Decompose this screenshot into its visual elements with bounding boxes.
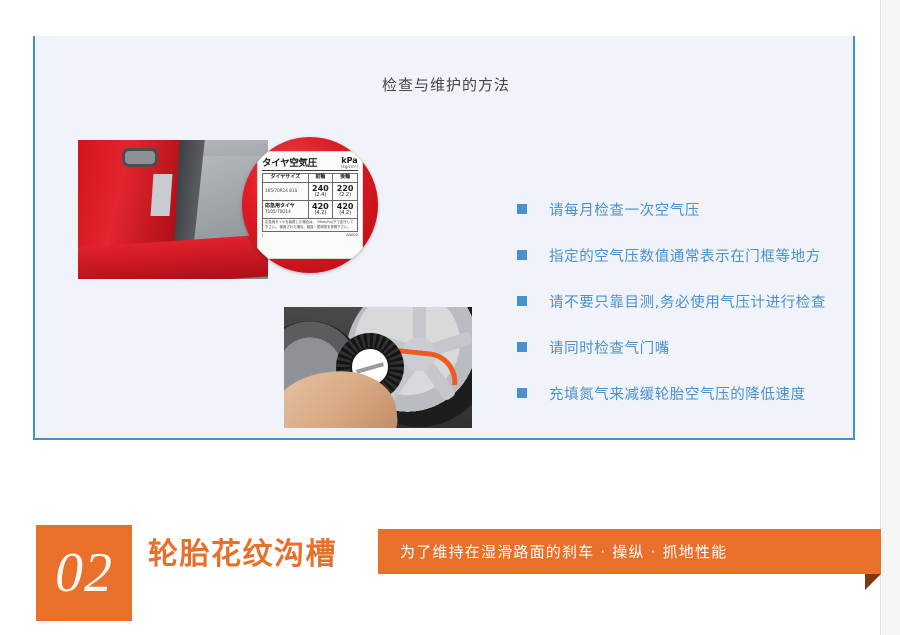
label-footer: J AA000 (262, 232, 358, 237)
square-bullet-icon (517, 204, 527, 214)
table-header-row: タイヤサイズ 前輪 後輪 (263, 174, 358, 183)
section-heading: 轮胎花纹沟槽 (148, 529, 337, 573)
square-bullet-icon (517, 250, 527, 260)
section-number-badge: 02 (36, 525, 132, 621)
label-unit-sub: (kg/cm²) (341, 165, 358, 169)
maintenance-bullet-list: 请每月检查一次空气压 指定的空气压数值通常表示在门框等地方 请不要只靠目测,务必… (517, 186, 826, 416)
list-item: 指定的空气压数值通常表示在门框等地方 (517, 232, 826, 278)
square-bullet-icon (517, 296, 527, 306)
car-door-sill-photo (78, 140, 268, 279)
row-front-pressure: 420 (4.2) (308, 200, 333, 218)
label-header: タイヤ空気圧 kPa (kg/cm²) (262, 155, 358, 171)
list-item: 请不要只靠目测,务必使用气压计进行检查 (517, 278, 826, 324)
section-banner-label: 为了维持在湿滑路面的刹车 · 操纵 · 抓地性能 (400, 541, 727, 562)
list-item-label: 请每月检查一次空气压 (549, 199, 700, 220)
list-item: 充填氮气来减缓轮胎空气压的降低速度 (517, 370, 826, 416)
front-value-alt: (2.4) (310, 193, 332, 199)
tire-pressure-label-magnifier: タイヤ空気圧 kPa (kg/cm²) タイヤサイズ 前輪 後輪 165/70 (242, 137, 378, 273)
pressure-table: タイヤサイズ 前輪 後輪 165/70R14 81S 240 (2.4) (262, 173, 358, 219)
row-size: 165/70R14 81S (263, 182, 309, 200)
label-unit: kPa (kg/cm²) (341, 157, 358, 169)
row-size: 応急用タイヤ T105/70D14 (263, 200, 309, 218)
tire-pressure-gauge-photo (284, 307, 472, 428)
section-banner: 为了维持在湿滑路面的刹车 · 操纵 · 抓地性能 (378, 529, 881, 574)
label-foot-left: J (262, 233, 263, 237)
row-rear-pressure: 420 (4.2) (333, 200, 358, 218)
front-value-alt: (4.2) (310, 211, 332, 217)
list-item-label: 充填氮气来减缓轮胎空气压的降低速度 (549, 383, 806, 404)
label-title: タイヤ空気圧 (262, 155, 317, 169)
rear-value-alt: (4.2) (334, 211, 356, 217)
tire-pressure-label: タイヤ空気圧 kPa (kg/cm²) タイヤサイズ 前輪 後輪 165/70 (257, 151, 363, 259)
column-header-size: タイヤサイズ (263, 174, 309, 183)
door-handle (122, 148, 158, 167)
list-item: 请同时检查气门嘴 (517, 324, 826, 370)
square-bullet-icon (517, 388, 527, 398)
row-front-pressure: 240 (2.4) (308, 182, 333, 200)
square-bullet-icon (517, 342, 527, 352)
rear-value-alt: (2.2) (334, 193, 356, 199)
door-jamb-sticker (151, 174, 173, 216)
column-header-rear: 後輪 (333, 174, 358, 183)
maintenance-info-card: 检查与维护的方法 (33, 36, 855, 440)
row-rear-pressure: 220 (2.2) (333, 182, 358, 200)
list-item-label: 请不要只靠目测,务必使用气压计进行检查 (549, 291, 826, 312)
label-foot-right: AA000 (346, 233, 358, 237)
list-item-label: 请同时检查气门嘴 (549, 337, 670, 358)
page-canvas: 检查与维护的方法 (0, 0, 881, 635)
page-gutter (882, 0, 900, 635)
banner-fold-corner (865, 574, 881, 590)
table-row: 応急用タイヤ T105/70D14 420 (4.2) 420 (4.2) (263, 200, 358, 218)
table-row: 165/70R14 81S 240 (2.4) 220 (2.2) (263, 182, 358, 200)
label-note: 応急用タイヤを装着した場合は、 70km/h以下で走行して下さい。 使用された場… (262, 219, 358, 232)
list-item: 请每月检查一次空气压 (517, 186, 826, 232)
row-size-sub: T105/70D14 (265, 209, 291, 214)
card-title: 检查与维护的方法 (35, 74, 857, 95)
column-header-front: 前輪 (308, 174, 333, 183)
list-item-label: 指定的空气压数值通常表示在门框等地方 (549, 245, 821, 266)
row-size-sub: 165/70R14 81S (265, 188, 297, 193)
